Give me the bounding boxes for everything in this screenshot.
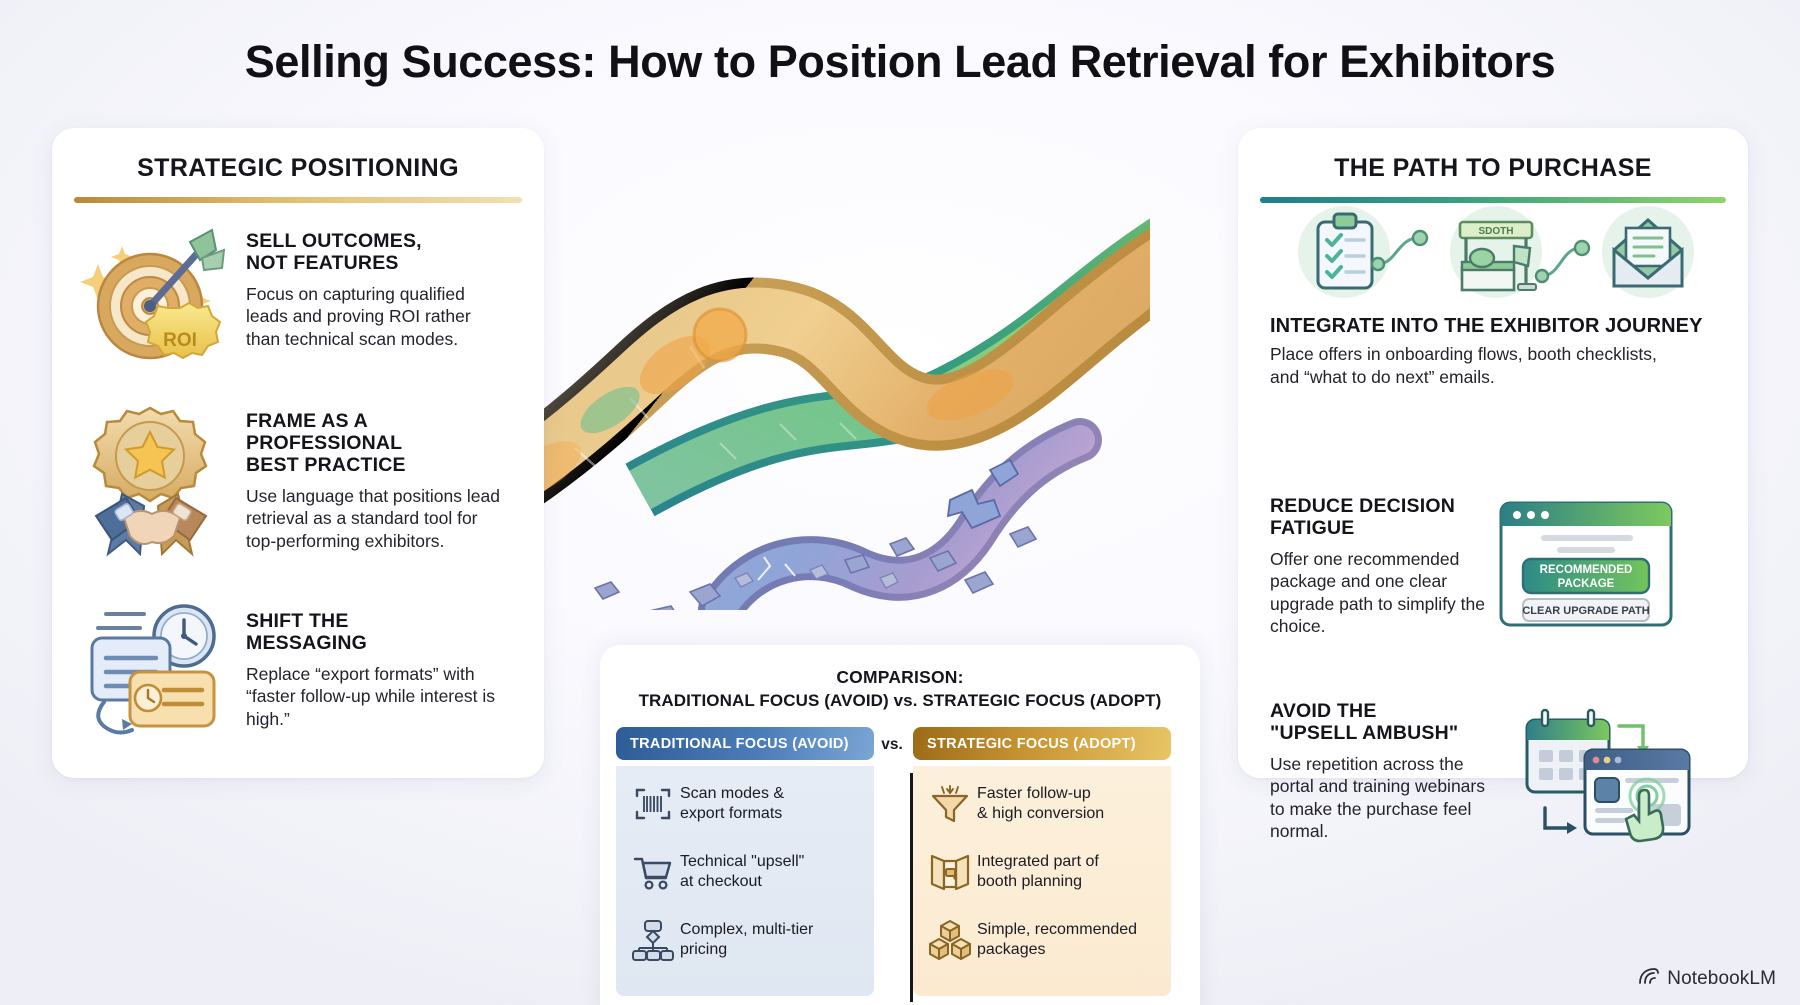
strategic-focus-column: STRATEGIC FOCUS (ADOPT) Faster fol xyxy=(913,727,1171,996)
strategic-focus-header: STRATEGIC FOCUS (ADOPT) xyxy=(913,727,1171,760)
list-item: Integrated part of booth planning xyxy=(923,848,1161,896)
list-item: AVOID THE "UPSELL AMBUSH" Use repetition… xyxy=(1270,700,1730,859)
svg-text:ROI: ROI xyxy=(163,330,197,351)
list-item: Simple, recommended packages xyxy=(923,916,1161,964)
chat-clock-icon xyxy=(78,598,228,743)
list-item: FRAME AS A PROFESSIONAL BEST PRACTICE Us… xyxy=(78,398,508,573)
list-item-title: AVOID THE "UPSELL AMBUSH" xyxy=(1270,700,1485,744)
list-item: Faster follow-up & high conversion xyxy=(923,780,1161,828)
list-item-label: Scan modes & export formats xyxy=(680,784,784,823)
page-title: Selling Success: How to Position Lead Re… xyxy=(0,36,1800,88)
award-handshake-icon xyxy=(78,398,228,573)
funnel-icon xyxy=(923,780,977,828)
list-item-body: Replace “export formats” with “faster fo… xyxy=(246,663,508,730)
list-item-body: Focus on capturing qualified leads and p… xyxy=(246,283,508,350)
recommended-package-label-line2: PACKAGE xyxy=(1558,578,1615,590)
list-item-label: Integrated part of booth planning xyxy=(977,852,1099,891)
traditional-focus-column: TRADITIONAL FOCUS (AVOID) xyxy=(616,727,874,996)
clear-upgrade-path-label: CLEAR UPGRADE PATH xyxy=(1522,605,1649,617)
list-item-body: Use language that positions lead retriev… xyxy=(246,485,508,552)
list-item: Complex, multi-tier pricing xyxy=(626,916,864,964)
list-item-body: Offer one recommended package and one cl… xyxy=(1270,548,1485,638)
browser-window-icon: RECOMMENDED PACKAGE CLEAR UPGRADE PATH xyxy=(1485,495,1675,638)
list-item: Technical "upsell" at checkout xyxy=(626,848,864,896)
vs-separator: vs. xyxy=(874,727,910,754)
comparison-subtitle: TRADITIONAL FOCUS (AVOID) vs. STRATEGIC … xyxy=(600,691,1200,711)
list-item-label: Complex, multi-tier pricing xyxy=(680,920,813,959)
list-item: ROI SELL OUTCOMES, NOT FEATURES Focus on… xyxy=(78,218,508,383)
traditional-focus-header: TRADITIONAL FOCUS (AVOID) xyxy=(616,727,874,760)
list-item-label: Technical "upsell" at checkout xyxy=(680,852,804,891)
list-item-title: INTEGRATE INTO THE EXHIBITOR JOURNEY xyxy=(1270,315,1740,338)
list-item: Scan modes & export formats xyxy=(626,780,864,828)
booth-doorway-icon xyxy=(923,848,977,896)
list-item-title: REDUCE DECISION FATIGUE xyxy=(1270,495,1485,539)
list-item-label: Faster follow-up & high conversion xyxy=(977,784,1104,823)
list-item: SHIFT THE MESSAGING Replace “export form… xyxy=(78,598,508,743)
calendar-browser-click-icon xyxy=(1485,700,1697,859)
list-item-title: SHIFT THE MESSAGING xyxy=(246,610,508,654)
shopping-cart-icon xyxy=(626,848,680,896)
package-boxes-icon xyxy=(923,916,977,964)
recommended-package-label-line1: RECOMMENDED xyxy=(1540,564,1633,576)
target-arrow-roi-icon: ROI xyxy=(78,218,228,383)
checklist-clipboard-icon xyxy=(1318,214,1372,288)
booth-sign-label: SDOTH xyxy=(1479,226,1514,237)
hierarchy-tree-icon xyxy=(626,916,680,964)
barcode-scan-icon xyxy=(626,780,680,828)
list-item-title: FRAME AS A PROFESSIONAL BEST PRACTICE xyxy=(246,410,508,476)
list-item-body: Use repetition across the portal and tra… xyxy=(1270,753,1485,843)
exhibitor-journey-diagram: SDOTH xyxy=(1286,200,1706,305)
comparison-title: COMPARISON: xyxy=(600,667,1200,688)
left-panel-header: STRATEGIC POSITIONING xyxy=(52,128,544,183)
list-item-body: Place offers in onboarding flows, booth … xyxy=(1270,343,1690,389)
list-item: REDUCE DECISION FATIGUE Offer one recomm… xyxy=(1270,495,1730,638)
right-panel-header: THE PATH TO PURCHASE xyxy=(1238,128,1748,183)
list-item-title: SELL OUTCOMES, NOT FEATURES xyxy=(246,230,508,274)
left-panel-divider xyxy=(74,197,522,203)
comparison-panel: COMPARISON: TRADITIONAL FOCUS (AVOID) vs… xyxy=(600,645,1200,1005)
notebooklm-label: NotebookLM xyxy=(1667,968,1776,990)
notebooklm-watermark: NotebookLM xyxy=(1638,967,1776,991)
list-item-label: Simple, recommended packages xyxy=(977,920,1137,959)
notebooklm-logo-icon xyxy=(1638,967,1660,991)
